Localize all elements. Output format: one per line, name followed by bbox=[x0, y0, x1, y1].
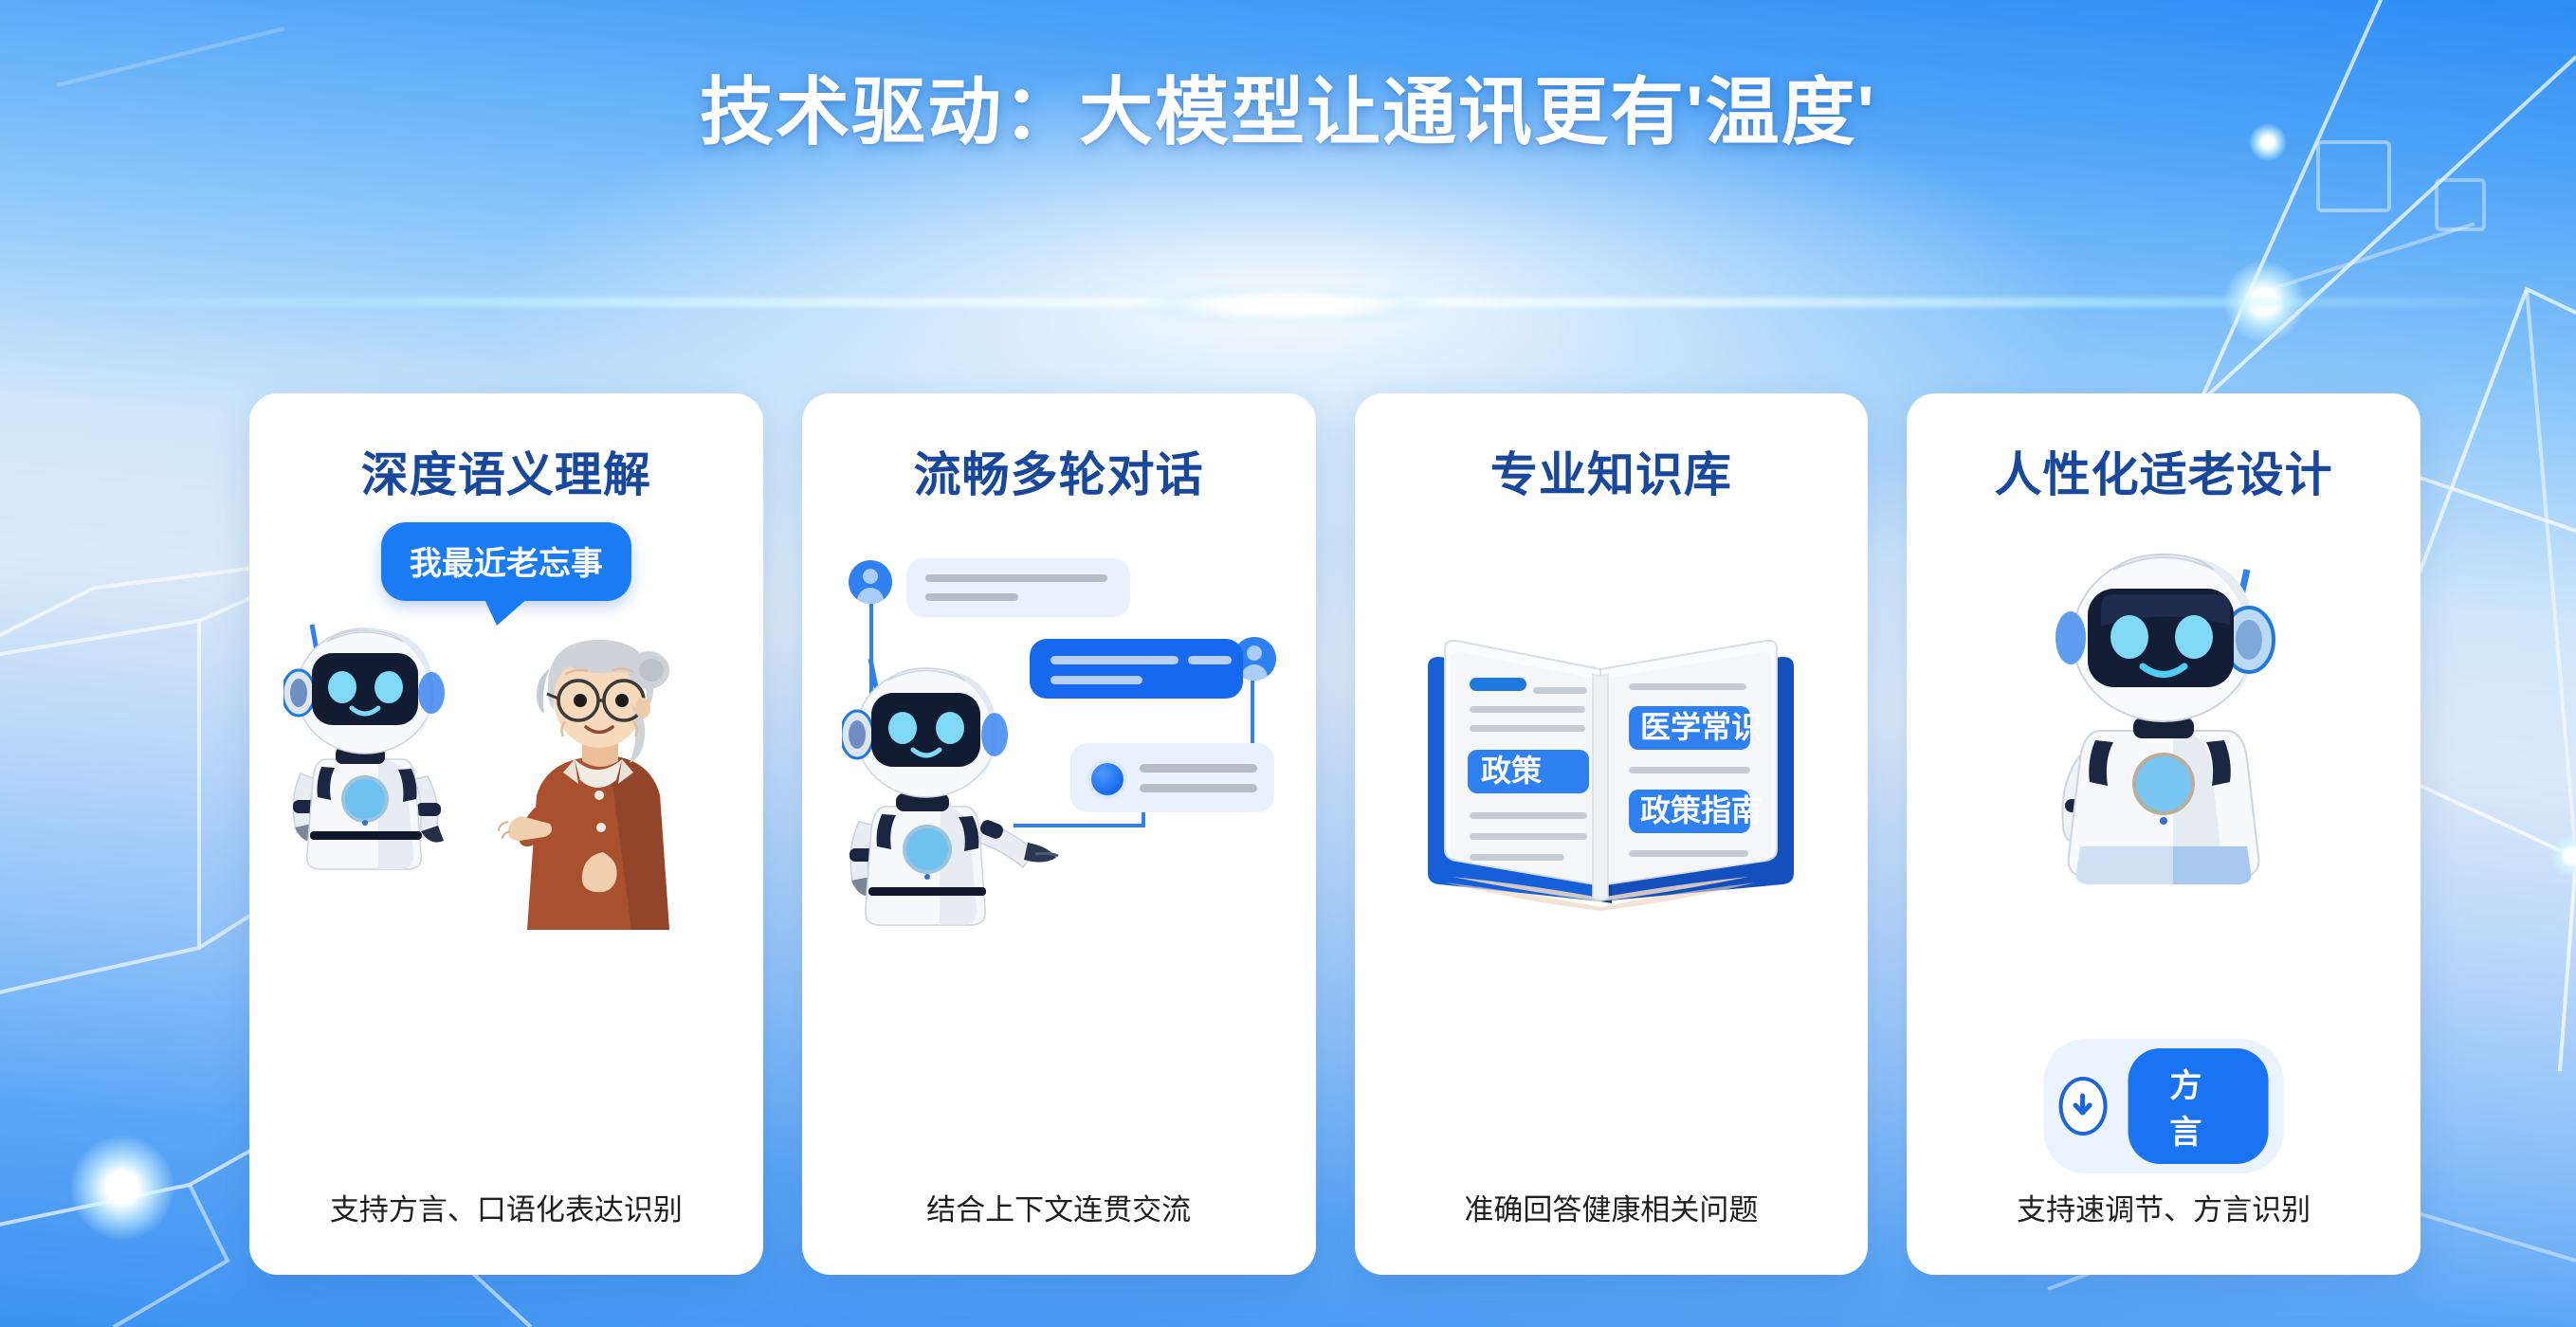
download-arrow-icon[interactable] bbox=[2059, 1077, 2108, 1136]
card-elderly-friendly-design[interactable]: 人性化适老设计 bbox=[1907, 393, 2421, 1275]
text-placeholder-line bbox=[925, 593, 1018, 601]
speech-bubble: 我最近老忘事 bbox=[381, 522, 631, 601]
text-placeholder-line bbox=[1140, 764, 1257, 773]
card-caption: 支持速调节、方言识别 bbox=[2017, 1191, 2311, 1243]
card-title: 深度语义理解 bbox=[361, 437, 651, 505]
robot-figure bbox=[842, 653, 1079, 937]
chat-bubble-incoming-1 bbox=[906, 558, 1130, 617]
card-caption: 结合上下文连贯交流 bbox=[926, 1191, 1191, 1243]
text-placeholder-line bbox=[1140, 784, 1257, 792]
card-professional-knowledge-base[interactable]: 专业知识库 bbox=[1355, 393, 1869, 1275]
glow-node-left bbox=[70, 1136, 174, 1240]
card-illustration-book: 政策 医学常识 政策指南 bbox=[1372, 505, 1852, 1191]
card-caption: 支持方言、口语化表达识别 bbox=[330, 1191, 683, 1243]
card-illustration-robot-and-elderly: 我最近老忘事 bbox=[266, 505, 746, 1191]
card-title: 流畅多轮对话 bbox=[914, 437, 1204, 505]
elderly-woman-figure bbox=[499, 640, 669, 930]
voice-dot-icon bbox=[1091, 763, 1124, 795]
dialect-badge[interactable]: 方言 bbox=[2128, 1048, 2268, 1164]
book-label-policy-guide: 政策指南 bbox=[1640, 793, 1762, 827]
card-caption: 准确回答健康相关问题 bbox=[1464, 1191, 1758, 1243]
card-deep-semantic-understanding[interactable]: 深度语义理解 我最近老忘事 bbox=[249, 393, 763, 1275]
open-book-illustration: 政策 医学常识 政策指南 bbox=[1407, 628, 1815, 913]
text-placeholder-line bbox=[925, 574, 1107, 582]
dialect-control-row[interactable]: 方言 bbox=[2044, 1039, 2284, 1173]
page-title: 技术驱动：大模型让通讯更有'温度' bbox=[0, 53, 2576, 159]
avatar-user-left bbox=[849, 560, 892, 604]
card-illustration-robot-front: 方言 bbox=[1924, 505, 2403, 1191]
card-illustration-chat bbox=[819, 505, 1299, 1191]
light-beam-core bbox=[1132, 284, 1445, 326]
robot-front-figure bbox=[2021, 545, 2306, 905]
book-label-policy: 政策 bbox=[1481, 754, 1542, 788]
card-title: 人性化适老设计 bbox=[1995, 437, 2333, 505]
book-label-medical: 医学常识 bbox=[1640, 710, 1762, 744]
feature-cards-row: 深度语义理解 我最近老忘事 bbox=[249, 393, 2421, 1275]
card-title: 专业知识库 bbox=[1490, 437, 1732, 505]
robot-elderly-illustration bbox=[283, 617, 729, 930]
robot-figure bbox=[283, 625, 445, 869]
text-placeholder-line bbox=[1188, 656, 1232, 664]
card-multi-turn-dialogue[interactable]: 流畅多轮对话 bbox=[802, 393, 1316, 1275]
